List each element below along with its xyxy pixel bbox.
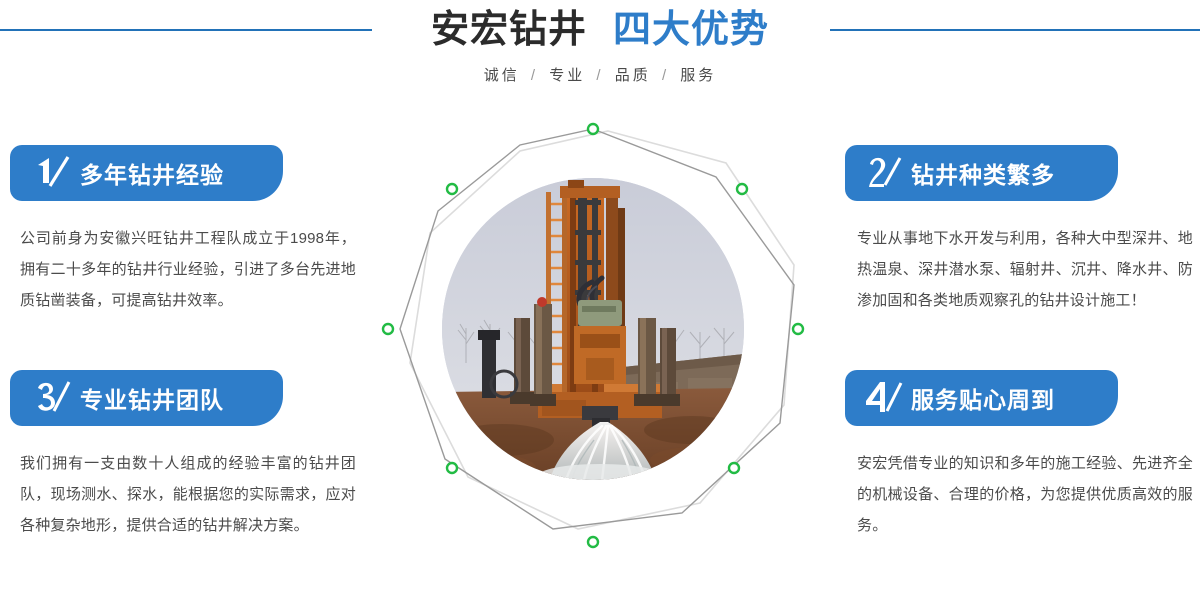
advantage-card-2: 钻井种类繁多 专业从事地下水开发与利用，各种大中型深井、地热温泉、深井潜水泵、辐… bbox=[845, 145, 1200, 316]
vertex-dot-top bbox=[588, 124, 598, 134]
subtitle-separator-2: / bbox=[662, 67, 669, 84]
number-1-icon bbox=[32, 153, 78, 193]
advantage-card-4-text: 安宏凭借专业的知识和多年的施工经验、先进齐全的机械设备、合理的价格，为您提供优质… bbox=[857, 448, 1193, 541]
advantage-card-4-header[interactable]: 服务贴心周到 bbox=[845, 370, 1118, 426]
subtitle-item-2: 品质 bbox=[615, 67, 651, 84]
subtitle-item-1: 专业 bbox=[549, 67, 585, 84]
subtitle-item-0: 诚信 bbox=[484, 67, 520, 84]
advantage-card-4: 服务贴心周到 安宏凭借专业的知识和多年的施工经验、先进齐全的机械设备、合理的价格… bbox=[845, 370, 1200, 541]
subtitle-separator-1: / bbox=[596, 67, 603, 84]
advantage-card-1: 多年钻井经验 公司前身为安徽兴旺钻井工程队成立于1998年，拥有二十多年的钻井行… bbox=[10, 145, 370, 316]
number-4-icon bbox=[863, 378, 909, 418]
vertex-dot-bottom bbox=[588, 537, 598, 547]
number-3-icon bbox=[32, 378, 78, 418]
page-root: 安宏钻井四大优势 诚信 / 专业 / 品质 / 服务 多年钻井经验 公司前身为安… bbox=[0, 0, 1200, 600]
center-illustration bbox=[370, 105, 830, 575]
page-title-accent: 四大优势 bbox=[613, 9, 769, 51]
advantage-card-2-header[interactable]: 钻井种类繁多 bbox=[845, 145, 1118, 201]
vertex-dot-left bbox=[383, 324, 393, 334]
advantage-card-3-text: 我们拥有一支由数十人组成的经验丰富的钻井团队，现场测水、探水，能根据您的实际需求… bbox=[20, 448, 356, 541]
advantage-card-3: 专业钻井团队 我们拥有一支由数十人组成的经验丰富的钻井团队，现场测水、探水，能根… bbox=[10, 370, 370, 541]
vertex-dot-right bbox=[793, 324, 803, 334]
advantage-card-1-title: 多年钻井经验 bbox=[80, 156, 224, 190]
advantage-card-1-header[interactable]: 多年钻井经验 bbox=[10, 145, 283, 201]
page-subtitle: 诚信 / 专业 / 品质 / 服务 bbox=[0, 64, 1200, 85]
page-header: 安宏钻井四大优势 诚信 / 专业 / 品质 / 服务 bbox=[0, 0, 1200, 110]
subtitle-separator-0: / bbox=[531, 67, 538, 84]
number-2-icon bbox=[863, 153, 909, 193]
advantage-card-1-text: 公司前身为安徽兴旺钻井工程队成立于1998年，拥有二十多年的钻井行业经验，引进了… bbox=[20, 223, 356, 316]
page-title-primary: 安宏钻井 bbox=[431, 9, 587, 51]
advantage-card-3-title: 专业钻井团队 bbox=[80, 381, 224, 415]
advantage-card-4-title: 服务贴心周到 bbox=[911, 381, 1055, 415]
page-title: 安宏钻井四大优势 bbox=[0, 6, 1200, 54]
drilling-rig-photo bbox=[442, 178, 744, 480]
advantage-card-3-header[interactable]: 专业钻井团队 bbox=[10, 370, 283, 426]
advantage-card-2-title: 钻井种类繁多 bbox=[911, 156, 1055, 190]
subtitle-item-3: 服务 bbox=[680, 67, 716, 84]
advantage-card-2-text: 专业从事地下水开发与利用，各种大中型深井、地热温泉、深井潜水泵、辐射井、沉井、降… bbox=[857, 223, 1193, 316]
